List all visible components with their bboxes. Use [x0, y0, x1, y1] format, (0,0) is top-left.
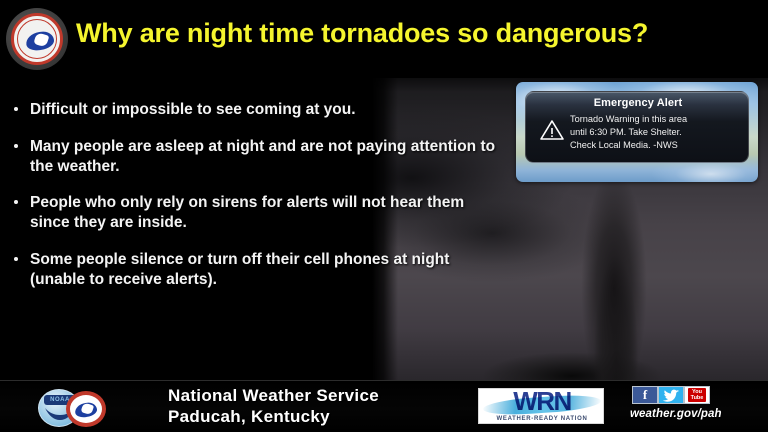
alert-body-line-2: until 6:30 PM. Take Shelter.	[570, 126, 746, 139]
bullet-dot-icon	[14, 200, 18, 204]
bullet-dot-icon	[14, 257, 18, 261]
list-item-text: Some people silence or turn off their ce…	[30, 251, 449, 288]
list-item: Many people are asleep at night and are …	[8, 137, 508, 177]
youtube-icon[interactable]: You Tube	[684, 386, 710, 404]
facebook-icon[interactable]: f	[632, 386, 658, 404]
list-item: Some people silence or turn off their ce…	[8, 250, 508, 290]
website-url[interactable]: weather.gov/pah	[630, 408, 722, 420]
presentation-slide: Photo by: Al Pietrycha Why are night tim…	[0, 0, 768, 432]
bullet-dot-icon	[14, 107, 18, 111]
list-item: Difficult or impossible to see coming at…	[8, 100, 508, 120]
list-item-text: Many people are asleep at night and are …	[30, 138, 495, 175]
alert-title: Emergency Alert	[526, 97, 750, 109]
title-band: Why are night time tornadoes so dangerou…	[0, 0, 768, 78]
nws-seal-icon	[6, 8, 68, 70]
alert-body-line-3: Check Local Media. -NWS	[570, 139, 746, 152]
twitter-icon[interactable]	[658, 386, 684, 404]
office-name-line-1: National Weather Service	[168, 386, 379, 407]
list-item: People who only rely on sirens for alert…	[8, 193, 508, 233]
emergency-alert-screenshot: Emergency Alert Tornado Warning in this …	[516, 82, 758, 182]
list-item-text: Difficult or impossible to see coming at…	[30, 101, 356, 118]
emergency-alert-banner: Emergency Alert Tornado Warning in this …	[525, 91, 749, 163]
wrn-tagline: WEATHER-READY NATION	[479, 416, 604, 422]
social-links: f You Tube	[632, 386, 710, 404]
warning-triangle-icon	[539, 118, 565, 142]
bullet-dot-icon	[14, 144, 18, 148]
weather-ready-nation-logo: WRN WEATHER-READY NATION	[478, 388, 604, 424]
office-name: National Weather Service Paducah, Kentuc…	[168, 386, 379, 427]
youtube-label-bottom: Tube	[691, 395, 704, 401]
nws-logo-icon	[66, 391, 106, 427]
bullet-list: Difficult or impossible to see coming at…	[8, 100, 508, 307]
alert-body: Tornado Warning in this area until 6:30 …	[570, 113, 746, 152]
alert-body-line-1: Tornado Warning in this area	[570, 113, 746, 126]
office-name-line-2: Paducah, Kentucky	[168, 407, 379, 428]
page-title: Why are night time tornadoes so dangerou…	[76, 18, 648, 49]
list-item-text: People who only rely on sirens for alert…	[30, 194, 464, 231]
